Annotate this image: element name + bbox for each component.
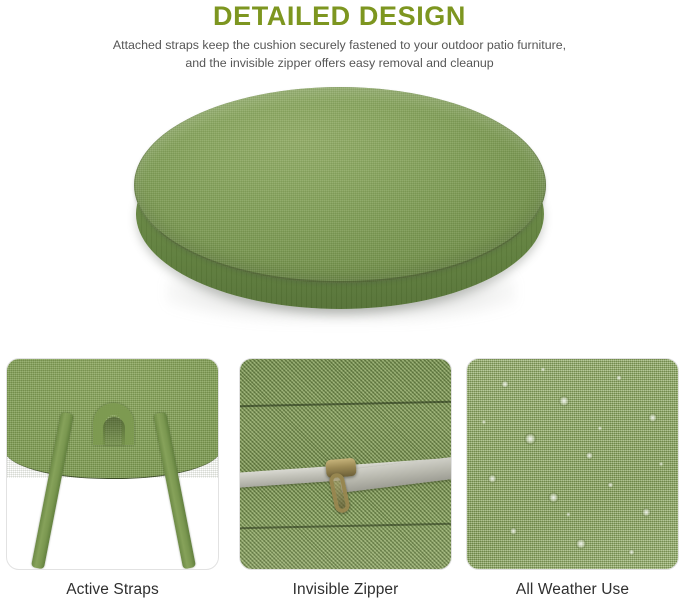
feature-panel-invisible-zipper: Invisible Zipper [239, 358, 452, 599]
thumbnail-all-weather-use [466, 358, 679, 570]
thumbnail-invisible-zipper [239, 358, 452, 570]
panel-caption: Active Straps [6, 581, 219, 599]
cushion-illustration [130, 83, 550, 331]
feature-panel-all-weather-use: All Weather Use [466, 358, 679, 599]
cushion-top-surface [134, 87, 546, 283]
panel-caption: All Weather Use [466, 581, 679, 599]
water-droplets [467, 359, 678, 569]
subtitle-line-2: and the invisible zipper offers easy rem… [40, 55, 640, 73]
thumbnail-active-straps [6, 358, 219, 570]
strap-loop-shadow [103, 417, 125, 447]
feature-panel-active-straps: Active Straps [6, 358, 219, 599]
feature-panels: Active Straps Invisible Zipper All Weath… [0, 358, 679, 607]
subtitle-line-1: Attached straps keep the cushion securel… [40, 37, 640, 55]
hero-image [0, 79, 679, 337]
page-title: DETAILED DESIGN [0, 2, 679, 30]
header: DETAILED DESIGN Attached straps keep the… [0, 0, 679, 73]
subtitle: Attached straps keep the cushion securel… [40, 37, 640, 72]
panel-caption: Invisible Zipper [239, 581, 452, 599]
